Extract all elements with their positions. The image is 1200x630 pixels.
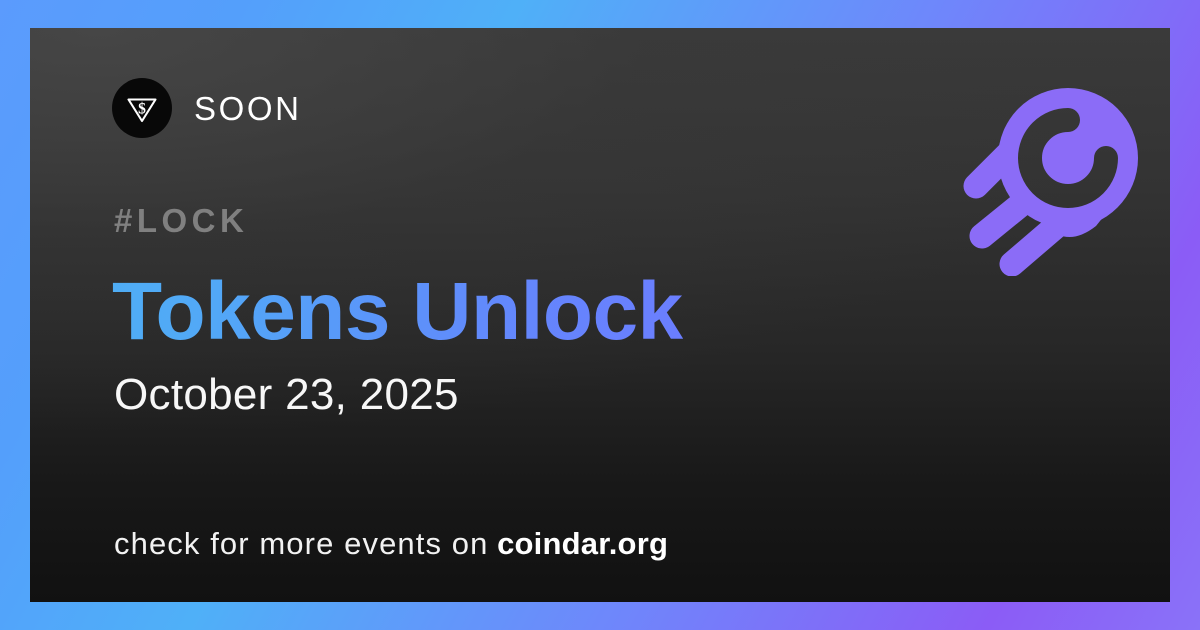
footer-brand-link[interactable]: coindar.org xyxy=(497,526,668,561)
event-date: October 23, 2025 xyxy=(114,373,459,417)
footer-note: check for more events on coindar.org xyxy=(114,528,668,559)
poster-canvas: $ SOON #LOCK Tokens Unlock October 23, 2… xyxy=(0,0,1200,630)
event-card: $ SOON #LOCK Tokens Unlock October 23, 2… xyxy=(30,28,1170,602)
event-title: Tokens Unlock xyxy=(112,268,683,357)
coindar-comet-icon xyxy=(950,76,1150,276)
event-tag: #LOCK xyxy=(114,204,248,237)
coin-name: SOON xyxy=(194,92,302,125)
dollar-triangle-icon: $ xyxy=(122,88,162,128)
svg-text:$: $ xyxy=(138,100,146,117)
coin-identity-row: $ SOON xyxy=(112,78,302,138)
soon-coin-logo: $ xyxy=(112,78,172,138)
footer-lead-text: check for more events on xyxy=(114,526,488,561)
